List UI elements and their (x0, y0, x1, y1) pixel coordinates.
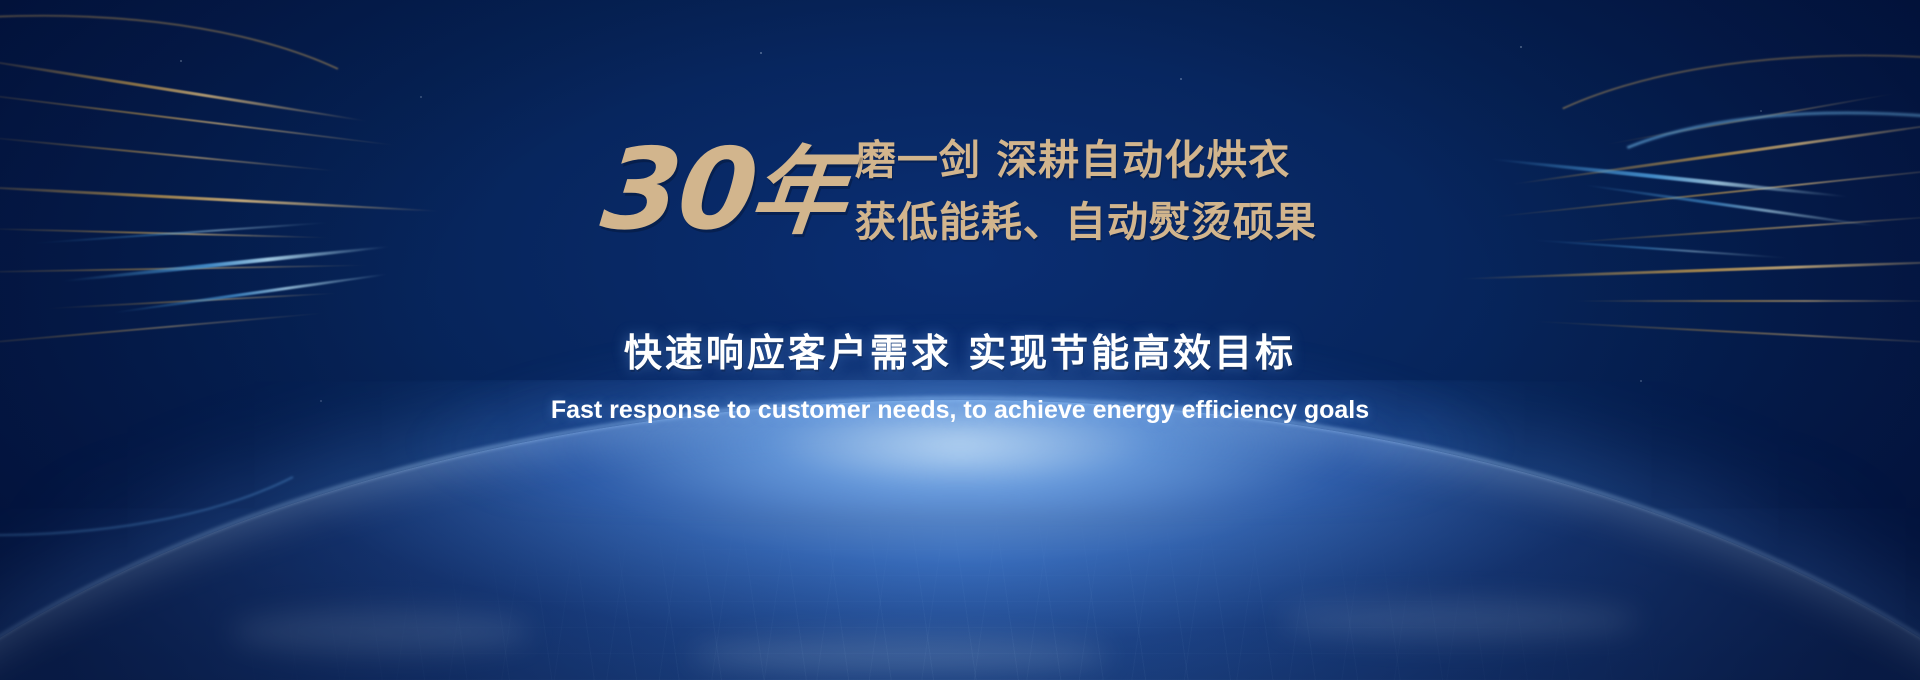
banner-text-content: 30 年 磨一剑 深耕自动化烘衣 获低能耗、自动熨烫硕果 快速响应客户需求 实现… (0, 0, 1920, 680)
hero-banner: 30 年 磨一剑 深耕自动化烘衣 获低能耗、自动熨烫硕果 快速响应客户需求 实现… (0, 0, 1920, 680)
gold-headline-line-1: 磨一剑 深耕自动化烘衣 (855, 134, 1317, 186)
headline-block: 30 年 磨一剑 深耕自动化烘衣 获低能耗、自动熨烫硕果 (0, 128, 1920, 248)
anniversary-unit-char: 年 (746, 144, 852, 240)
gold-headline-lines: 磨一剑 深耕自动化烘衣 获低能耗、自动熨烫硕果 (855, 134, 1317, 248)
gold-headline-line-2: 获低能耗、自动熨烫硕果 (855, 196, 1317, 248)
slogan-english: Fast response to customer needs, to achi… (0, 396, 1920, 425)
anniversary-number: 30 (597, 134, 761, 246)
slogan-chinese: 快速响应客户需求 实现节能高效目标 (0, 322, 1920, 377)
